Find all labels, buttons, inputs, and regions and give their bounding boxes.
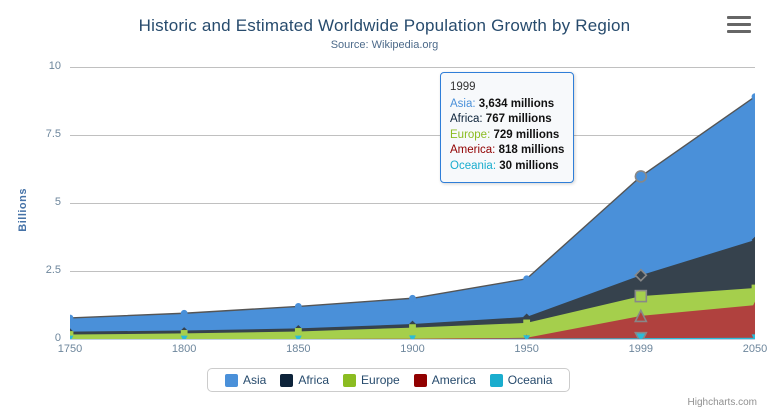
chart-legend[interactable]: AsiaAfricaEuropeAmericaOceania [207,368,570,392]
x-axis-tick-label: 1999 [611,343,671,355]
x-axis-tick-label: 1850 [268,343,328,355]
tooltip-series-value: 30 millions [499,160,558,172]
menu-bar-2 [727,23,751,26]
legend-swatch-icon [490,374,503,387]
hamburger-menu-icon[interactable] [727,16,751,36]
menu-bar-3 [727,30,751,33]
tooltip-series-value: 729 millions [493,129,559,141]
chart-subtitle: Source: Wikipedia.org [0,39,769,51]
legend-item-europe[interactable]: Europe [343,373,400,387]
marker-asia[interactable] [523,275,530,282]
y-axis-tick-label: 7.5 [15,128,61,140]
marker-europe[interactable] [295,328,302,335]
legend-item-africa[interactable]: Africa [280,373,329,387]
tooltip-series-value: 818 millions [499,144,565,156]
tooltip-rows: Asia: 3,634 millionsAfrica: 767 millions… [450,97,564,175]
tooltip-row: Africa: 767 millions [450,112,564,128]
credits-label[interactable]: Highcharts.com [688,397,757,408]
marker-europe[interactable] [635,291,646,302]
marker-asia[interactable] [409,295,416,302]
tooltip-series-value: 3,634 millions [479,98,554,110]
legend-swatch-icon [280,374,293,387]
x-axis-tick-label: 2050 [725,343,769,355]
marker-europe[interactable] [409,324,416,331]
x-axis-tick-label: 1950 [497,343,557,355]
tooltip-row: Asia: 3,634 millions [450,97,564,113]
tooltip-row: Europe: 729 millions [450,128,564,144]
y-axis-title: Billions [17,188,29,232]
legend-swatch-icon [414,374,427,387]
tooltip-row: Oceania: 30 millions [450,159,564,175]
x-axis-tick-label: 1800 [154,343,214,355]
legend-label: Europe [361,373,400,387]
tooltip-series-name: Oceania: [450,160,499,172]
legend-item-oceania[interactable]: Oceania [490,373,553,387]
gridline-0 [70,339,755,340]
y-axis-tick-label: 5 [15,196,61,208]
tooltip: 1999 Asia: 3,634 millionsAfrica: 767 mil… [440,72,574,183]
tooltip-series-name: Asia: [450,98,479,110]
legend-swatch-icon [225,374,238,387]
tooltip-series-value: 767 millions [486,113,552,125]
tooltip-header: 1999 [450,80,564,97]
marker-asia[interactable] [635,171,646,182]
legend-label: Asia [243,373,266,387]
marker-asia[interactable] [295,303,302,310]
series-layer [70,67,755,339]
x-axis-tick-label: 1750 [40,343,100,355]
chart-title: Historic and Estimated Worldwide Populat… [0,16,769,36]
legend-label: America [432,373,476,387]
legend-item-america[interactable]: America [414,373,476,387]
menu-bar-1 [727,16,751,19]
y-axis-tick-label: 10 [15,60,61,72]
x-axis-tick-label: 1900 [383,343,443,355]
highcharts-container: Historic and Estimated Worldwide Populat… [0,0,769,416]
tooltip-series-name: America: [450,144,499,156]
legend-label: Africa [298,373,329,387]
tooltip-row: America: 818 millions [450,143,564,159]
legend-label: Oceania [508,373,553,387]
tooltip-series-name: Africa: [450,113,486,125]
legend-swatch-icon [343,374,356,387]
marker-europe[interactable] [752,285,755,292]
legend-item-asia[interactable]: Asia [225,373,266,387]
marker-europe[interactable] [523,320,530,327]
tooltip-series-name: Europe: [450,129,493,141]
y-axis-tick-label: 2.5 [15,264,61,276]
marker-asia[interactable] [181,310,188,317]
